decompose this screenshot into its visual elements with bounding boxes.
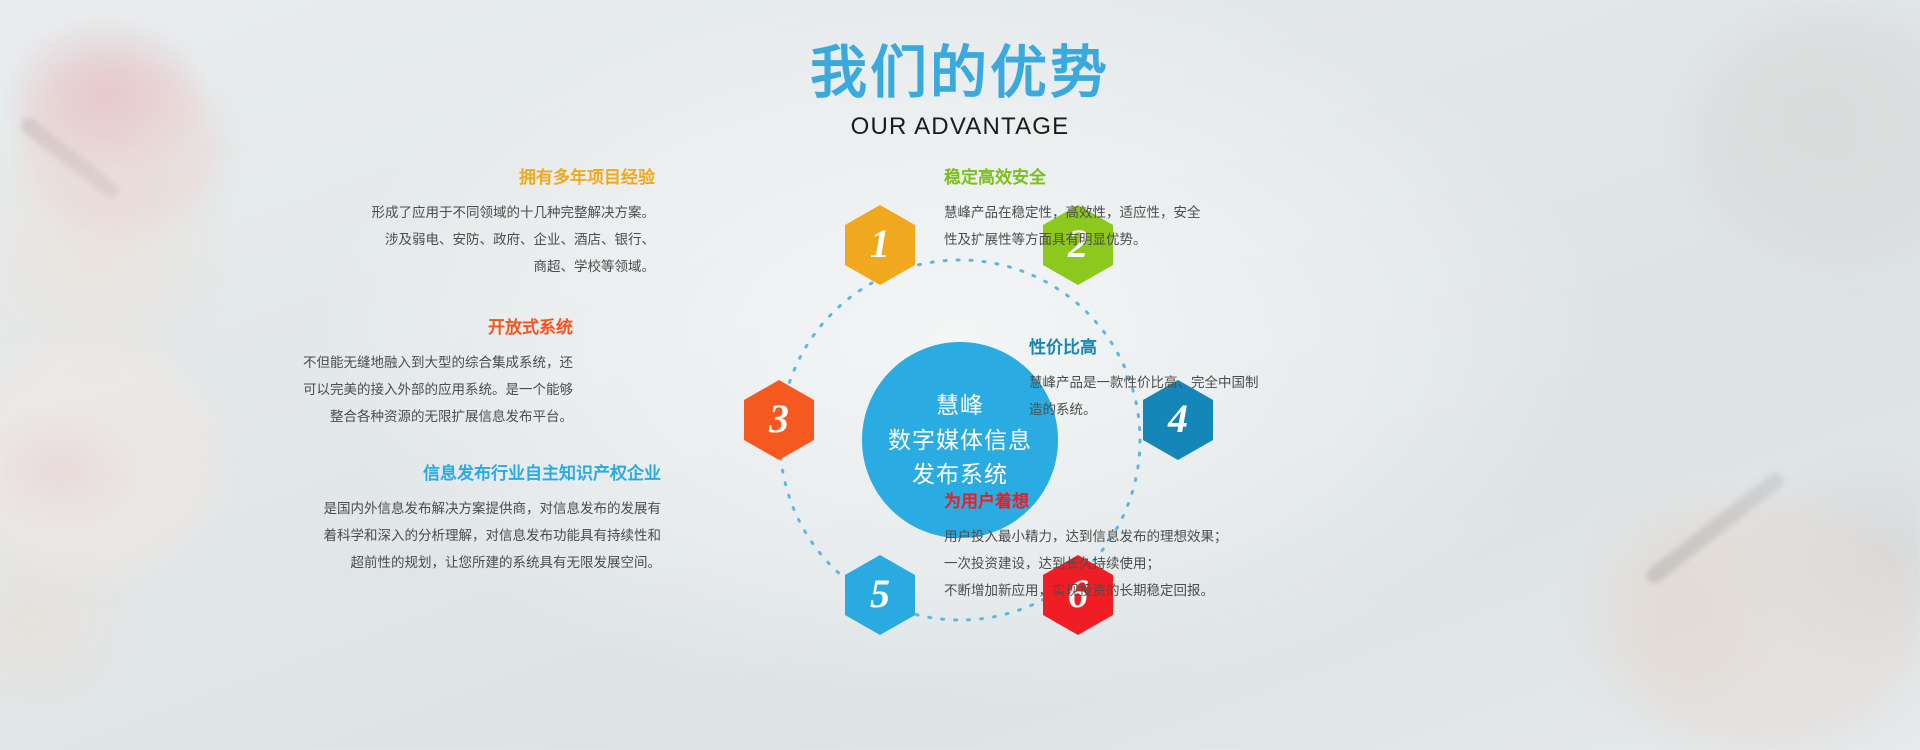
advantage-body-line: 慧峰产品是一款性价比高、完全中国制 [1029,369,1359,396]
advantage-heading-3: 开放式系统 [248,318,573,338]
advantage-item-6: 为用户着想 用户投入最小精力，达到信息发布的理想效果；一次投资建设，达到长久持续… [944,492,1274,604]
advantage-body-5: 是国内外信息发布解决方案提供商，对信息发布的发展有着科学和深入的分析理解，对信息… [266,495,661,576]
advantage-body-line: 形成了应用于不同领域的十几种完整解决方案。 [330,199,655,226]
page-subtitle: OUR ADVANTAGE [0,113,1920,141]
advantage-body-line: 不但能无缝地融入到大型的综合集成系统，还 [248,349,573,376]
advantage-heading-6: 为用户着想 [944,492,1274,512]
advantage-body-line: 涉及弱电、安防、政府、企业、酒店、银行、 [330,226,655,253]
advantage-item-4: 性价比高 慧峰产品是一款性价比高、完全中国制造的系统。 [1029,338,1359,423]
advantage-body-line: 商超、学校等领域。 [330,253,655,280]
advantage-body-1: 形成了应用于不同领域的十几种完整解决方案。涉及弱电、安防、政府、企业、酒店、银行… [330,199,655,280]
page-title: 我们的优势 [0,44,1920,104]
advantage-body-line: 不断增加新应用，实现投资的长期稳定回报。 [944,577,1274,604]
advantage-item-2: 稳定高效安全 慧峰产品在稳定性，高效性，适应性，安全性及扩展性等方面具有明显优势… [944,168,1274,253]
advantage-body-4: 慧峰产品是一款性价比高、完全中国制造的系统。 [1029,369,1359,423]
hexagon-number-1: 1 [870,224,890,264]
advantage-heading-5: 信息发布行业自主知识产权企业 [266,464,661,484]
center-line-1: 慧峰 [936,388,984,423]
hexagon-number-5: 5 [870,574,890,614]
advantage-item-1: 拥有多年项目经验 形成了应用于不同领域的十几种完整解决方案。涉及弱电、安防、政府… [330,168,655,280]
advantage-body-line: 着科学和深入的分析理解，对信息发布功能具有持续性和 [266,522,661,549]
advantage-body-line: 可以完美的接入外部的应用系统。是一个能够 [248,376,573,403]
advantage-body-line: 超前性的规划，让您所建的系统具有无限发展空间。 [266,549,661,576]
hexagon-number-3: 3 [769,399,789,439]
advantage-body-line: 一次投资建设，达到长久持续使用； [944,550,1274,577]
advantage-body-line: 是国内外信息发布解决方案提供商，对信息发布的发展有 [266,495,661,522]
advantage-body-line: 性及扩展性等方面具有明显优势。 [944,226,1274,253]
advantage-body-line: 造的系统。 [1029,396,1359,423]
advantage-body-line: 用户投入最小精力，达到信息发布的理想效果； [944,523,1274,550]
advantage-item-3: 开放式系统 不但能无缝地融入到大型的综合集成系统，还可以完美的接入外部的应用系统… [248,318,573,430]
advantage-heading-1: 拥有多年项目经验 [330,168,655,188]
center-line-2: 数字媒体信息 [888,423,1032,458]
advantage-body-2: 慧峰产品在稳定性，高效性，适应性，安全性及扩展性等方面具有明显优势。 [944,199,1274,253]
advantage-body-line: 整合各种资源的无限扩展信息发布平台。 [248,403,573,430]
advantage-body-line: 慧峰产品在稳定性，高效性，适应性，安全 [944,199,1274,226]
advantage-heading-4: 性价比高 [1029,338,1359,358]
advantage-item-5: 信息发布行业自主知识产权企业 是国内外信息发布解决方案提供商，对信息发布的发展有… [266,464,661,576]
advantage-body-3: 不但能无缝地融入到大型的综合集成系统，还可以完美的接入外部的应用系统。是一个能够… [248,349,573,430]
advantage-heading-2: 稳定高效安全 [944,168,1274,188]
center-line-3: 发布系统 [912,457,1008,492]
advantage-body-6: 用户投入最小精力，达到信息发布的理想效果；一次投资建设，达到长久持续使用；不断增… [944,523,1274,604]
header: 我们的优势 OUR ADVANTAGE [0,44,1920,141]
